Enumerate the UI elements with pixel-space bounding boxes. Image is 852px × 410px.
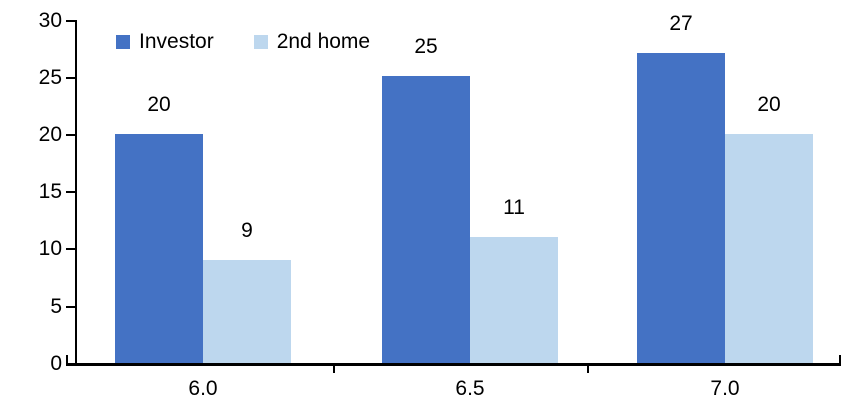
bar-chart: 30 25 20 15 10 5 0 20 9 25 11 27 20 6.0 … <box>0 0 852 410</box>
y-axis-tick-30 <box>66 20 75 22</box>
x-axis-label-6-0: 6.0 <box>159 378 247 399</box>
bar-value-investor-7-0: 27 <box>637 13 725 34</box>
bar-investor-7-0[interactable] <box>637 53 725 363</box>
y-axis-tick-10 <box>66 248 75 250</box>
y-axis-label-10: 10 <box>10 238 62 260</box>
legend-item-second-home[interactable]: 2nd home <box>254 31 370 52</box>
y-axis-label-15: 15 <box>10 181 62 203</box>
y-axis-label-text: 25 <box>18 67 62 88</box>
y-axis-line <box>75 20 77 364</box>
y-axis-label-text: 30 <box>18 10 62 31</box>
y-axis-tick-5 <box>66 306 75 308</box>
y-axis-tick-20 <box>66 134 75 136</box>
y-axis-tick-15 <box>66 191 75 193</box>
x-axis-tick-2 <box>587 363 589 373</box>
y-axis-tick-25 <box>66 77 75 79</box>
legend-item-investor[interactable]: Investor <box>116 31 214 52</box>
bar-second-home-6-5[interactable] <box>470 237 558 363</box>
y-axis-label-0: 0 <box>10 353 62 375</box>
bar-value-second-home-7-0: 20 <box>725 94 813 115</box>
bar-value-investor-6-5: 25 <box>382 36 470 57</box>
x-axis-tick-1 <box>333 363 335 373</box>
legend-label-investor: Investor <box>139 31 214 52</box>
x-axis-label-6-5: 6.5 <box>426 378 514 399</box>
bar-value-second-home-6-5: 11 <box>470 197 558 218</box>
bar-investor-6-0[interactable] <box>115 134 203 363</box>
y-axis-label-25: 25 <box>10 67 62 89</box>
y-axis-label-20: 20 <box>10 124 62 146</box>
legend-swatch-second-home-icon <box>254 35 268 49</box>
bar-value-investor-6-0: 20 <box>115 94 203 115</box>
x-axis-line <box>66 363 841 366</box>
y-axis-label-text: 20 <box>18 124 62 145</box>
bar-value-second-home-6-0: 9 <box>203 220 291 241</box>
y-axis-label-text: 15 <box>18 181 62 202</box>
x-axis-tick-end <box>839 355 841 366</box>
y-axis-label-text: 10 <box>18 238 62 259</box>
legend-label-second-home: 2nd home <box>277 31 370 52</box>
x-axis-tick-start <box>66 355 68 366</box>
y-axis-label-text: 5 <box>18 296 62 317</box>
bar-investor-6-5[interactable] <box>382 76 470 363</box>
y-axis-label-text: 0 <box>18 353 62 374</box>
bar-second-home-7-0[interactable] <box>725 134 813 363</box>
y-axis-label-30: 30 <box>10 10 62 32</box>
legend-swatch-investor-icon <box>116 35 130 49</box>
y-axis-label-5: 5 <box>10 296 62 318</box>
bar-second-home-6-0[interactable] <box>203 260 291 363</box>
x-axis-label-7-0: 7.0 <box>681 378 769 399</box>
chart-legend: Investor 2nd home <box>116 31 370 52</box>
